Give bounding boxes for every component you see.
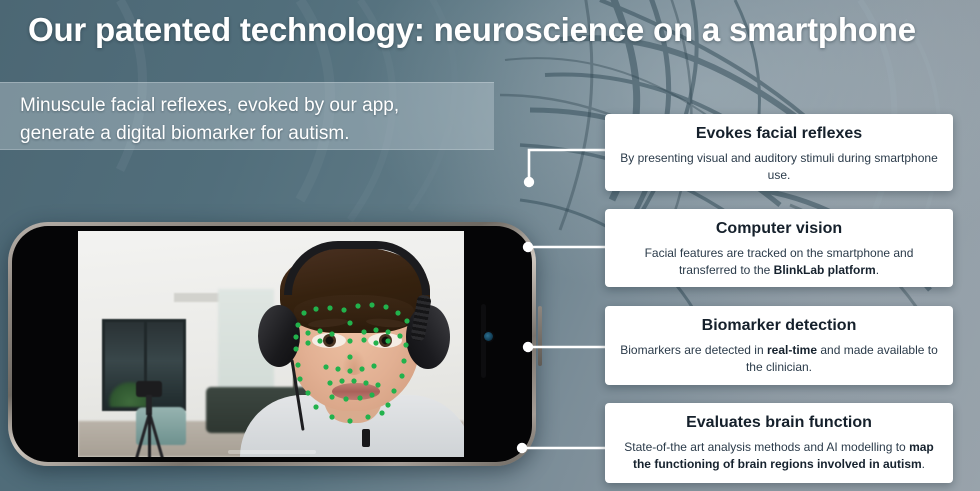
child-subject (246, 233, 464, 457)
card-title: Computer vision (619, 219, 939, 239)
card-title: Evaluates brain function (619, 413, 939, 433)
card-body: Facial features are tracked on the smart… (619, 245, 939, 279)
connector-dot-1 (524, 177, 534, 187)
card-title: Biomarker detection (619, 316, 939, 336)
front-camera-icon (484, 332, 493, 341)
card-body-pre: State-of-the art analysis methods and AI… (624, 440, 909, 454)
card-body-pre: Biomarkers are detected in (620, 343, 767, 357)
card-body: By presenting visual and auditory stimul… (619, 150, 939, 184)
card-body: State-of-the art analysis methods and AI… (619, 439, 939, 473)
home-indicator (228, 450, 316, 454)
phone-screen (12, 226, 532, 462)
card-title: Evokes facial reflexes (619, 124, 939, 144)
callout-card-biomarker-detection[interactable]: Biomarker detection Biomarkers are detec… (605, 306, 953, 385)
smartphone-mockup (8, 222, 536, 466)
slide-canvas: Our patented technology: neuroscience on… (0, 0, 980, 491)
card-body-post: . (876, 263, 879, 277)
callout-card-computer-vision[interactable]: Computer vision Facial features are trac… (605, 209, 953, 287)
card-body-pre: By presenting visual and auditory stimul… (620, 151, 938, 182)
headphones-earcup-left (258, 305, 300, 367)
callout-card-evokes-facial-reflexes[interactable]: Evokes facial reflexes By presenting vis… (605, 114, 953, 191)
card-body-post: . (922, 457, 925, 471)
child-eye-left (312, 333, 346, 348)
child-nose (342, 349, 366, 375)
camera-video-feed (78, 231, 464, 457)
room-tripod (122, 381, 176, 457)
card-body: Biomarkers are detected in real-time and… (619, 342, 939, 376)
card-body-bold: BlinkLab platform (774, 263, 876, 277)
subtitle-line-1: Minuscule facial reflexes, evoked by our… (20, 92, 490, 120)
card-body-bold: real-time (767, 343, 817, 357)
slide-subtitle: Minuscule facial reflexes, evoked by our… (20, 92, 490, 148)
subtitle-line-2: generate a digital biomarker for autism. (20, 120, 490, 148)
slide-title: Our patented technology: neuroscience on… (28, 10, 958, 50)
callout-card-evaluates-brain-function[interactable]: Evaluates brain function State-of-the ar… (605, 403, 953, 483)
child-mouth (332, 383, 380, 400)
child-eye-right (368, 333, 402, 348)
phone-speaker-slot (481, 304, 486, 378)
connector-line-1 (529, 150, 605, 182)
headphones-headband (284, 241, 430, 295)
microphone-clip (362, 429, 370, 447)
phone-side-button[interactable] (538, 306, 542, 366)
